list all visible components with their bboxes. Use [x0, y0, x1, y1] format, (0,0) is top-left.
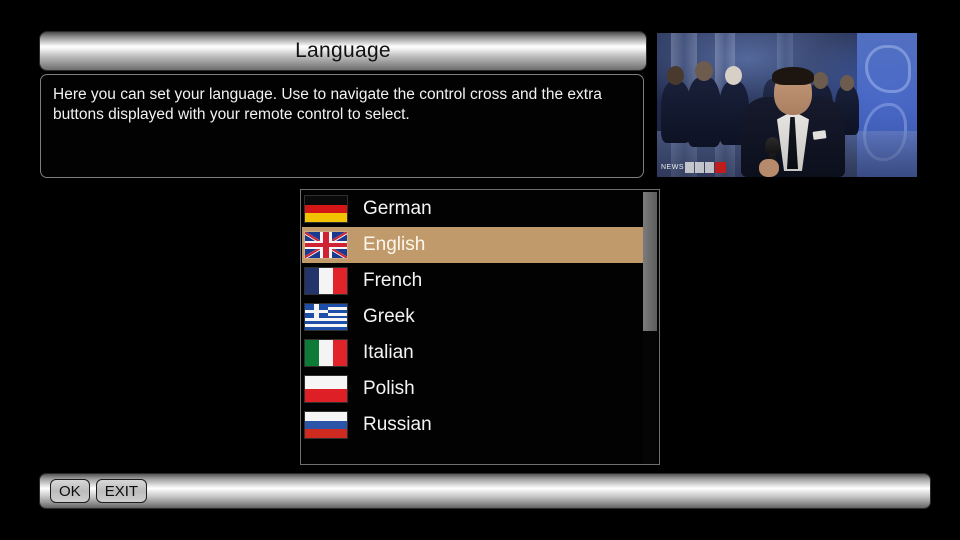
flag-pl-icon [305, 376, 347, 402]
language-item-label: English [363, 234, 425, 256]
language-list: GermanEnglishFrenchGreekItalianPolishRus… [302, 191, 644, 443]
language-item-label: German [363, 198, 432, 220]
language-list-panel: GermanEnglishFrenchGreekItalianPolishRus… [300, 189, 660, 465]
language-item-russian[interactable]: Russian [302, 407, 644, 443]
crowd-figure [695, 61, 713, 81]
language-item-english[interactable]: English [302, 227, 644, 263]
language-item-label: Greek [363, 306, 415, 328]
scrollbar-thumb[interactable] [643, 192, 657, 331]
language-item-polish[interactable]: Polish [302, 371, 644, 407]
reporter-figure [741, 69, 845, 177]
channel-bug-text: NEWS [661, 164, 684, 171]
ok-button[interactable]: OK [50, 479, 90, 503]
language-item-italian[interactable]: Italian [302, 335, 644, 371]
exit-button[interactable]: EXIT [96, 479, 147, 503]
language-item-label: French [363, 270, 422, 292]
language-item-french[interactable]: French [302, 263, 644, 299]
channel-logo-bug: NEWS [661, 162, 726, 173]
language-item-label: Russian [363, 414, 432, 436]
list-scrollbar[interactable] [643, 192, 657, 464]
flag-de-icon [305, 196, 347, 222]
flag-gb-icon [305, 232, 347, 258]
flag-gr-icon [305, 304, 347, 330]
description-text: Here you can set your language. Use to n… [53, 85, 631, 125]
crowd-figure [725, 66, 742, 85]
crowd-figure [687, 77, 721, 147]
crowd-figure [667, 66, 684, 85]
tv-settings-screen: Language Here you can set your language.… [0, 0, 960, 540]
reporter-hand [759, 159, 779, 177]
live-tv-preview[interactable]: NEWS [656, 32, 918, 178]
flag-it-icon [305, 340, 347, 366]
language-item-label: Polish [363, 378, 415, 400]
page-title: Language [295, 39, 391, 63]
footer-button-bar: OK EXIT [40, 474, 930, 508]
flag-ru-icon [305, 412, 347, 438]
language-item-greek[interactable]: Greek [302, 299, 644, 335]
description-box: Here you can set your language. Use to n… [40, 74, 644, 178]
title-bar: Language [40, 32, 646, 70]
language-item-label: Italian [363, 342, 414, 364]
language-item-german[interactable]: German [302, 191, 644, 227]
reporter-hair [772, 67, 814, 85]
flag-fr-icon [305, 268, 347, 294]
